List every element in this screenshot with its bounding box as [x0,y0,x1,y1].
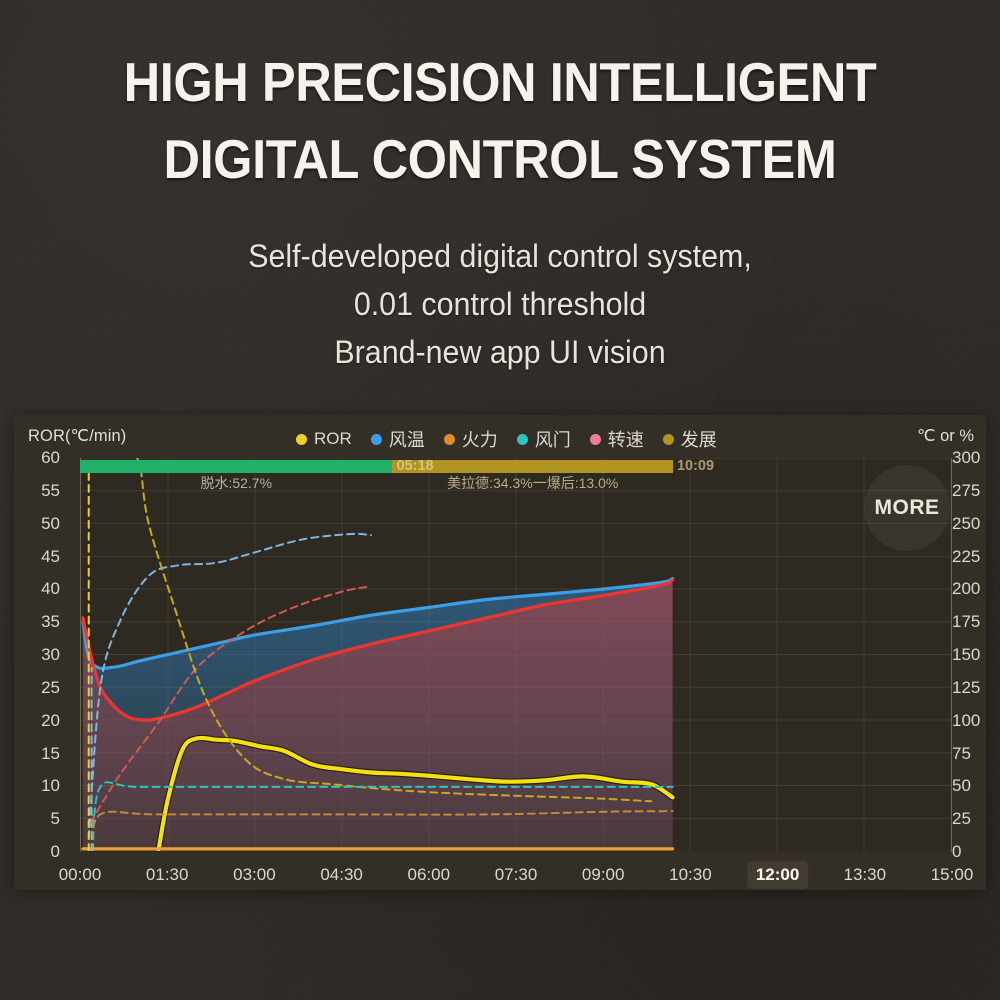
y-tick-label: 15 [14,747,60,761]
legend-item-label: 发展 [681,426,717,452]
chart-curves-svg [81,458,951,851]
x-tick-label[interactable]: 04:30 [311,861,372,889]
hero-subtitle-line-3: Brand-new app UI vision [25,328,975,376]
chart-legend-items[interactable]: ROR风温火力风门转速发展 [296,426,717,452]
legend-item-2[interactable]: 风温 [371,426,425,452]
y-tick-label: 25 [14,681,60,695]
legend-dot-damper [517,434,528,445]
y-tick-label: 10 [14,779,60,793]
hero-subtitle: Self-developed digital control system, 0… [25,232,975,376]
x-tick-label-active[interactable]: 12:00 [747,861,808,889]
y-tick-label: 275 [952,484,986,498]
y-tick-label: 20 [14,714,60,728]
y-tick-label: 60 [14,451,60,465]
chart-plot-area[interactable] [80,458,952,852]
y-tick-label: 250 [952,517,986,531]
hero-title-line-1: HIGH PRECISION INTELLIGENT [40,44,960,121]
hero-title-line-2: DIGITAL CONTROL SYSTEM [40,121,960,198]
phase-segment-1[interactable] [80,460,392,473]
x-tick-label[interactable]: 00:00 [50,861,111,889]
y-tick-label: 40 [14,582,60,596]
left-axis-unit-label: ROR(℃/min) [28,426,126,446]
x-tick-label[interactable]: 03:00 [224,861,285,889]
y-tick-label: 75 [952,747,986,761]
roast-chart-panel: ROR(℃/min) ROR风温火力风门转速发展 ℃ or % 60555045… [14,415,986,890]
legend-item-6[interactable]: 发展 [663,426,717,452]
x-axis: 00:0001:3003:0004:3006:0007:3009:0010:30… [14,852,986,890]
y-tick-label: 25 [952,812,986,826]
phase-end-time-1: 05:18 [396,458,433,474]
y-tick-label: 150 [952,648,986,662]
hero-subtitle-line-2: 0.01 control threshold [25,280,975,328]
legend-item-5[interactable]: 转速 [590,426,644,452]
x-tick-label[interactable]: 13:30 [835,861,896,889]
legend-item-3[interactable]: 火力 [444,426,498,452]
legend-item-label: 风门 [535,426,571,452]
y-tick-label: 5 [14,812,60,826]
y-tick-label: 225 [952,550,986,564]
legend-item-label: 风温 [389,426,425,452]
chart-legend-bar: ROR(℃/min) ROR风温火力风门转速发展 ℃ or % [14,415,986,458]
legend-dot-heat [444,434,455,445]
phase-label-2: 美拉德:34.3%一爆后:13.0% [447,473,618,493]
y-tick-label: 100 [952,714,986,728]
y-tick-label: 55 [14,484,60,498]
legend-dot-development [663,434,674,445]
x-tick-label[interactable]: 06:00 [399,861,460,889]
x-tick-label[interactable]: 10:30 [660,861,721,889]
y-tick-label: 175 [952,615,986,629]
legend-dot-ror [296,434,307,445]
legend-item-label: 转速 [608,426,644,452]
legend-item-4[interactable]: 风门 [517,426,571,452]
legend-dot-wind-temp [371,434,382,445]
phase-end-time-2: 10:09 [677,458,714,474]
hero-subtitle-line-1: Self-developed digital control system, [25,232,975,280]
x-tick-label[interactable]: 15:00 [922,861,983,889]
right-axis-unit-label: ℃ or % [917,426,974,446]
x-tick-label[interactable]: 09:00 [573,861,634,889]
y-tick-label: 50 [14,517,60,531]
legend-item-1[interactable]: ROR [296,429,352,449]
x-tick-label[interactable]: 07:30 [486,861,547,889]
y-tick-label: 300 [952,451,986,465]
x-tick-label[interactable]: 01:30 [137,861,198,889]
y-tick-label: 50 [952,779,986,793]
phase-progress-labels: 脱水:52.7%05:18美拉德:34.3%一爆后:13.0%10:09 [80,473,952,493]
phase-label-1: 脱水:52.7% [200,473,272,493]
legend-item-label: 火力 [462,426,498,452]
hero-section: HIGH PRECISION INTELLIGENT DIGITAL CONTR… [0,0,1000,376]
y-tick-label: 200 [952,582,986,596]
y-tick-label: 35 [14,615,60,629]
phase-progress-bars[interactable] [80,460,673,473]
legend-dot-rpm [590,434,601,445]
y-tick-label: 125 [952,681,986,695]
phase-segment-2[interactable] [392,460,672,473]
page-root: HIGH PRECISION INTELLIGENT DIGITAL CONTR… [0,0,1000,1000]
more-button[interactable]: MORE [864,465,950,551]
legend-item-label: ROR [314,429,352,449]
y-tick-label: 45 [14,550,60,564]
y-tick-label: 30 [14,648,60,662]
